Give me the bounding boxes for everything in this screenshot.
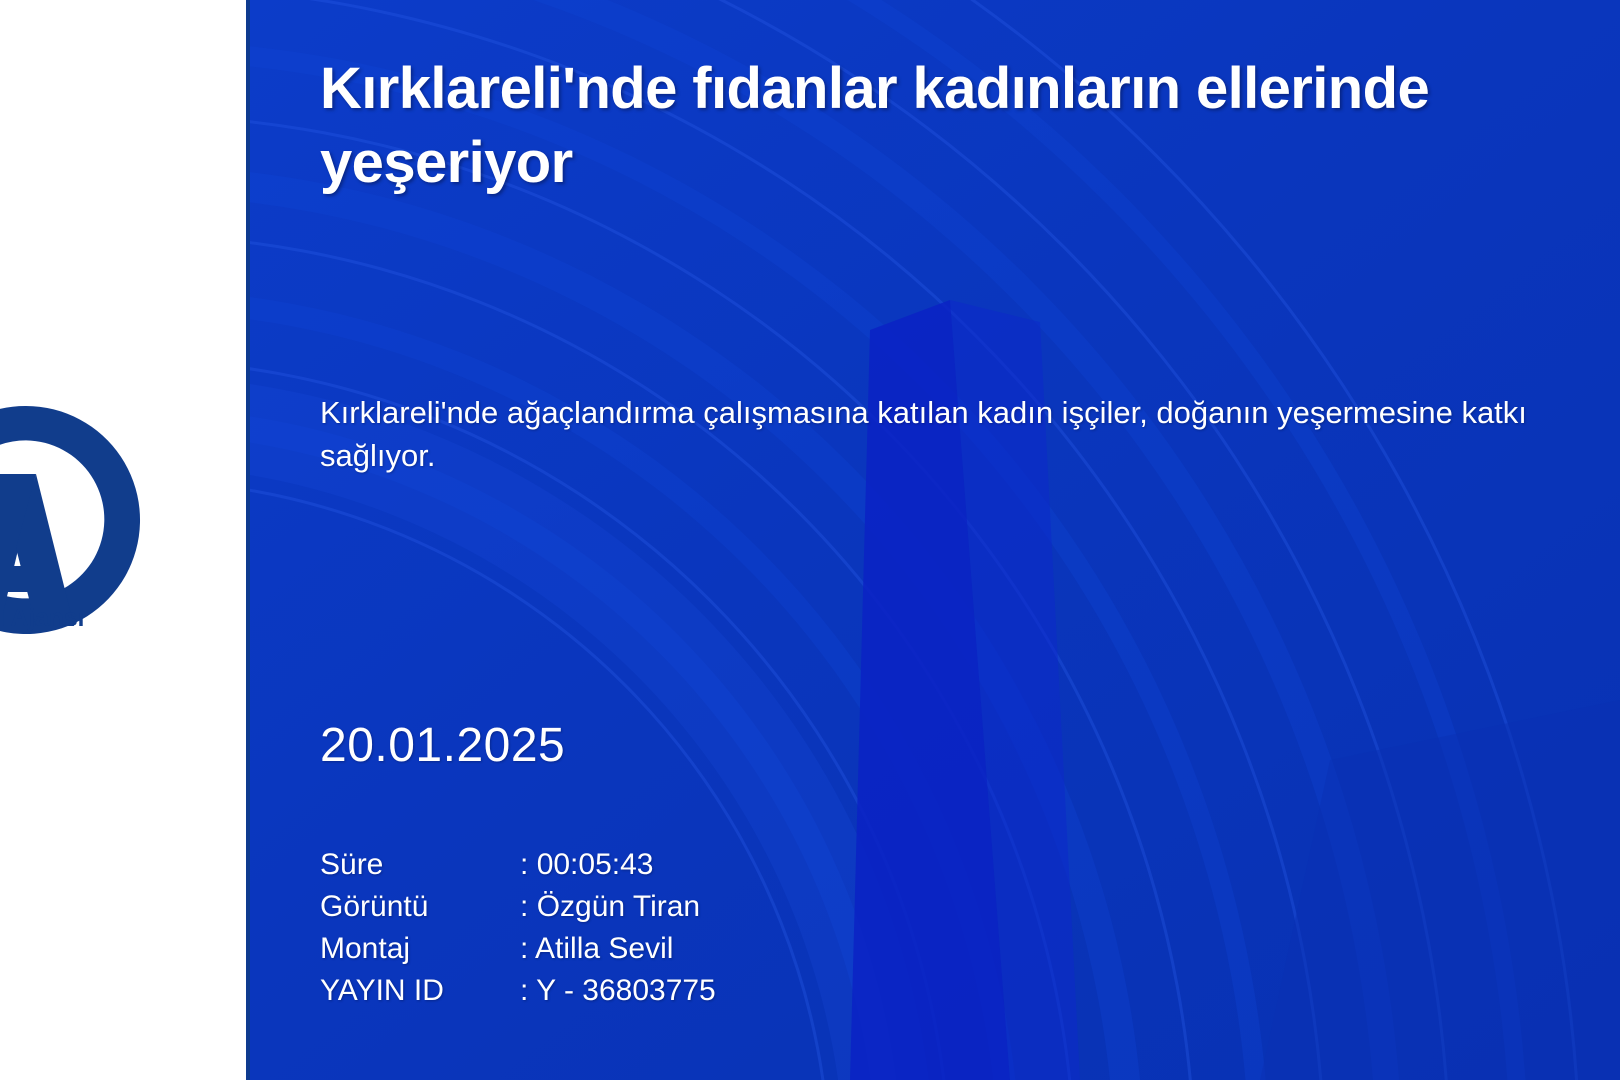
metadata-value-yayin-id: : Y - 36803775	[520, 970, 716, 1012]
metadata-separator: :	[520, 932, 528, 965]
metadata-value-montaj: : Atilla Sevil	[520, 928, 716, 970]
metadata-value-text: Atilla Sevil	[535, 932, 673, 965]
metadata-value-text: Y - 36803775	[536, 974, 716, 1007]
brand-caption: olu Ajansı	[0, 604, 148, 633]
table-row: YAYIN ID : Y - 36803775	[320, 970, 716, 1012]
metadata-value-text: Özgün Tiran	[537, 890, 700, 923]
brand-panel: olu Ajansı	[0, 0, 250, 1080]
metadata-label-yayin-id: YAYIN ID	[320, 970, 520, 1012]
metadata-value-sure: : 00:05:43	[520, 844, 716, 886]
metadata-table: Süre : 00:05:43 Görüntü : Özgün Tiran	[320, 844, 716, 1012]
metadata-label-goruntu: Görüntü	[320, 886, 520, 928]
story-panel: Kırklareli'nde fıdanlar kadınların eller…	[250, 0, 1620, 1080]
table-row: Görüntü : Özgün Tiran	[320, 886, 716, 928]
metadata-value-goruntu: : Özgün Tiran	[520, 886, 716, 928]
publish-date: 20.01.2025	[320, 718, 565, 773]
metadata-label-montaj: Montaj	[320, 928, 520, 970]
metadata-label-sure: Süre	[320, 844, 520, 886]
table-row: Montaj : Atilla Sevil	[320, 928, 716, 970]
story-content: Kırklareli'nde fıdanlar kadınların eller…	[250, 0, 1620, 1080]
metadata-separator: :	[520, 848, 528, 881]
page-title: Kırklareli'nde fıdanlar kadınların eller…	[320, 52, 1520, 200]
story-summary: Kırklareli'nde ağaçlandırma çalışmasına …	[320, 392, 1620, 478]
metadata-value-text: 00:05:43	[537, 848, 654, 881]
metadata-separator: :	[520, 974, 528, 1007]
metadata-separator: :	[520, 890, 528, 923]
news-metadata-card: olu Ajansı	[0, 0, 1620, 1080]
table-row: Süre : 00:05:43	[320, 844, 716, 886]
